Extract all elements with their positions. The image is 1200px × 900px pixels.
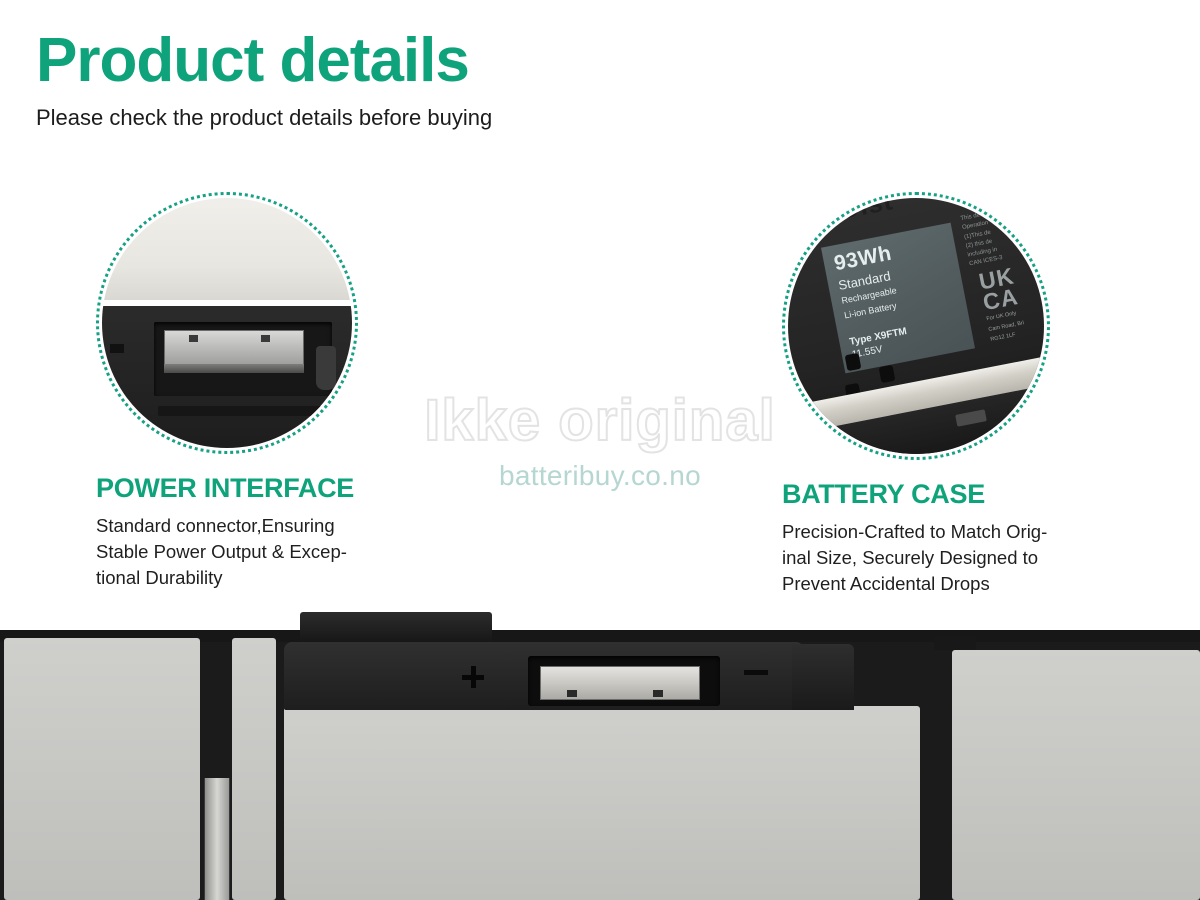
product-photo-full-battery	[0, 608, 1200, 900]
battery-connector-top-cover	[300, 612, 492, 642]
connector-metal-contact	[164, 330, 304, 366]
battery-cell	[4, 638, 200, 900]
feature-heading-power-interface: POWER INTERFACE	[96, 474, 426, 504]
feature-desc-line: inal Size, Securely Designed to	[782, 545, 1112, 571]
battery-right-tab	[792, 644, 854, 710]
battery-spec-label: 93Wh Standard Rechargeable Li-ion Batter…	[821, 223, 975, 374]
battery-cell	[232, 638, 276, 900]
page-subtitle: Please check the product details before …	[36, 105, 492, 131]
product-details-page: Product details Please check the product…	[0, 0, 1200, 900]
battery-connector-contact	[540, 666, 700, 700]
battery-case-stage: Dist 93Wh Standard Rechargeable Li-ion B…	[788, 198, 1044, 454]
feature-desc-line: tional Durability	[96, 565, 426, 591]
connector-lower-groove	[158, 406, 328, 416]
battery-case-photo-circle: Dist 93Wh Standard Rechargeable Li-ion B…	[782, 192, 1050, 460]
polarity-plus-icon	[462, 666, 484, 688]
case-vent-hole	[845, 353, 862, 371]
power-interface-photo-circle	[96, 192, 358, 454]
battery-top-surface	[102, 198, 352, 300]
case-vent-hole	[879, 365, 896, 383]
battery-cell	[284, 706, 920, 900]
power-interface-photo	[102, 198, 352, 448]
feature-desc-power-interface: Standard connector,Ensuring Stable Power…	[96, 513, 426, 592]
battery-metal-strip	[204, 778, 230, 900]
connector-metal-lip	[164, 364, 304, 373]
feature-desc-line: Standard connector,Ensuring	[96, 513, 426, 539]
page-title: Product details	[36, 28, 492, 93]
feature-desc-battery-case: Precision-Crafted to Match Orig- inal Si…	[782, 519, 1112, 598]
battery-cell	[952, 650, 1200, 900]
battery-small-tab	[934, 636, 976, 650]
feature-power-interface: POWER INTERFACE Standard connector,Ensur…	[96, 192, 426, 591]
connector-notch	[110, 344, 124, 353]
connector-side-tab	[316, 346, 336, 390]
page-header: Product details Please check the product…	[36, 28, 492, 131]
battery-dash-marking	[744, 670, 768, 675]
feature-desc-line: Stable Power Output & Excep-	[96, 539, 426, 565]
feature-desc-line: Prevent Accidental Drops	[782, 571, 1112, 597]
battery-case-photo: Dist 93Wh Standard Rechargeable Li-ion B…	[788, 198, 1044, 454]
feature-desc-line: Precision-Crafted to Match Orig-	[782, 519, 1112, 545]
feature-battery-case: Dist 93Wh Standard Rechargeable Li-ion B…	[782, 192, 1112, 597]
feature-heading-battery-case: BATTERY CASE	[782, 480, 1112, 510]
